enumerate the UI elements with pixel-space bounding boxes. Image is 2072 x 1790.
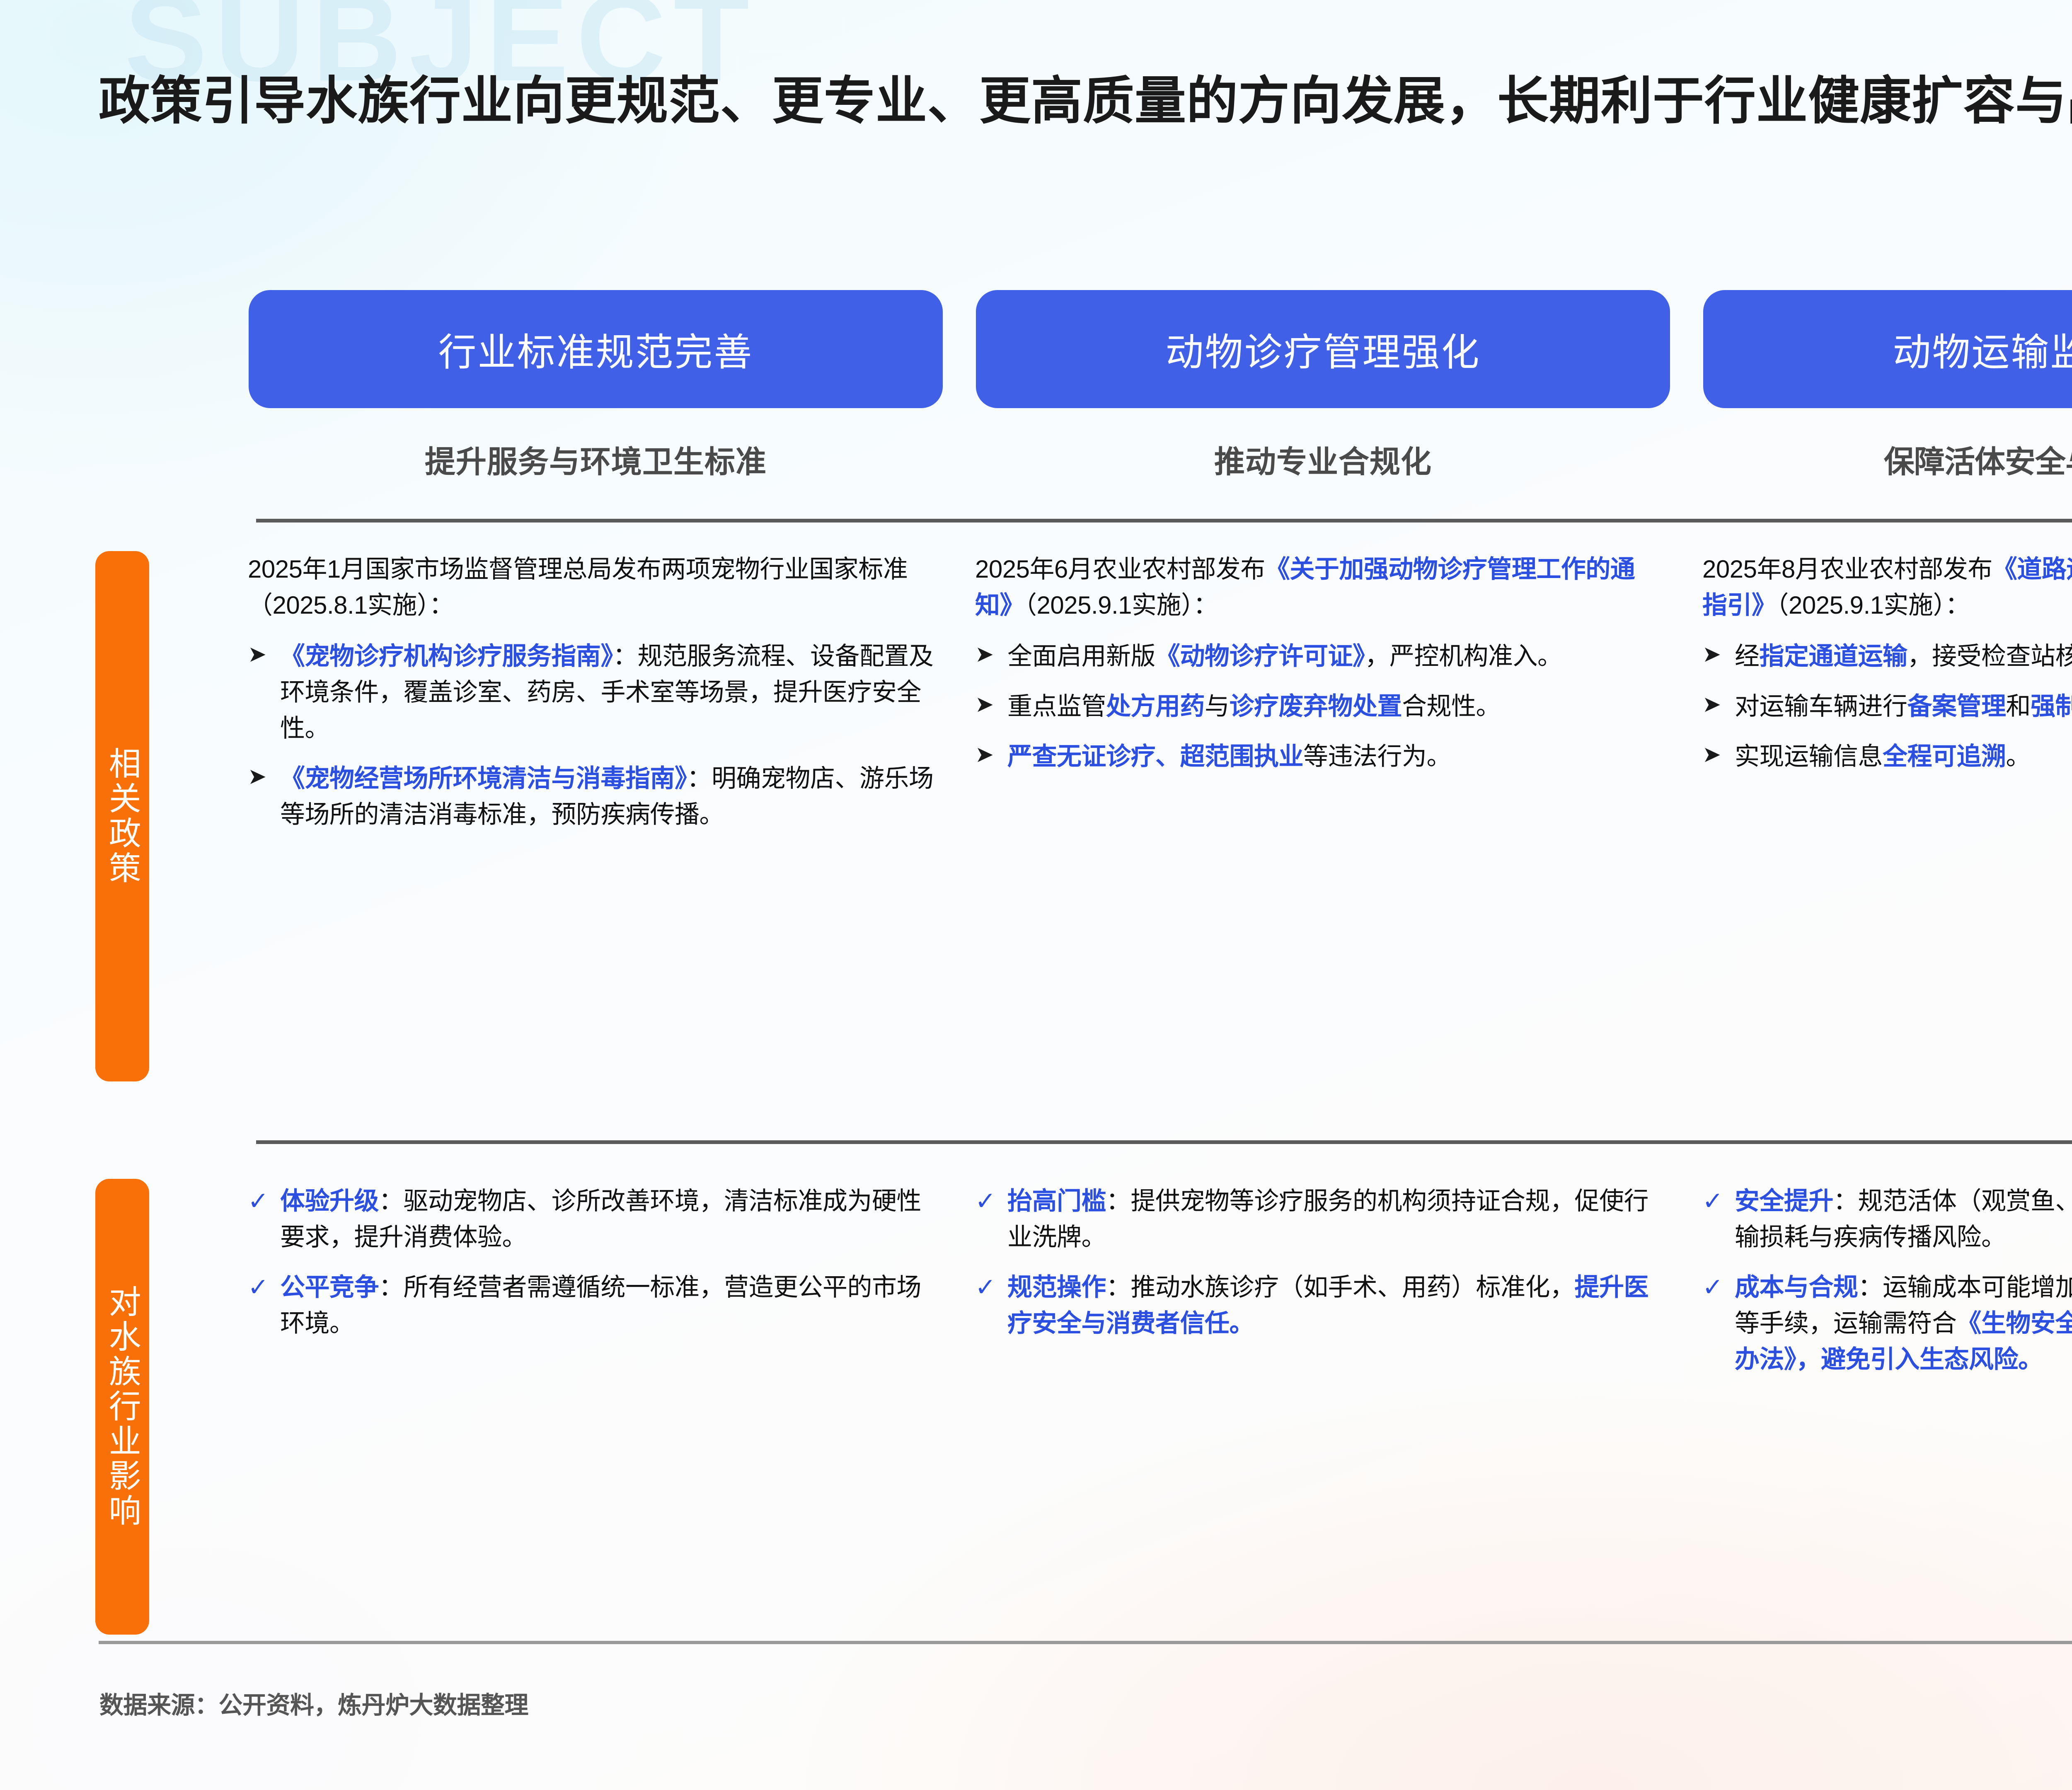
arrow-bullet-icon: ➤ (1702, 638, 1735, 670)
policy-row: 2025年1月国家市场监督管理总局发布两项宠物行业国家标准（2025.8.1实施… (232, 551, 2072, 832)
text-segment: 体验升级 (280, 1187, 379, 1215)
section-divider-middle (256, 1140, 2072, 1144)
list-item: ➤严查无证诊疗、超范围执业等违法行为。 (975, 738, 1669, 774)
section-divider-top (256, 519, 2072, 522)
arrow-bullet-icon: ➤ (1702, 688, 1735, 721)
row-label-impact-text: 对水族行业影响 (104, 1285, 140, 1529)
text-segment: 。 (2006, 743, 2031, 770)
text-segment: 成本与合规 (1735, 1273, 1858, 1301)
check-icon: ✓ (248, 1269, 280, 1305)
arrow-bullet-icon: ➤ (248, 760, 280, 793)
policy-lead-2: 2025年6月农业农村部发布《关于加强动物诊疗管理工作的通知》（2025.9.1… (975, 551, 1669, 623)
list-item: ➤《宠物经营场所环境清洁与消毒指南》：明确宠物店、游乐场等场所的清洁消毒标准，预… (248, 760, 942, 832)
impact-column-3: ✓安全提升：规范活体（观赏鱼、虾、龟）运输流程，降低运输损耗与疾病传播风险。✓成… (1687, 1183, 2072, 1391)
column-header-pill-2[interactable]: 动物诊疗管理强化 (976, 290, 1670, 408)
impact-bullet-list-1: ✓体验升级：驱动宠物店、诊所改善环境，清洁标准成为硬性要求，提升消费体验。✓公平… (248, 1183, 942, 1341)
impact-bullet-list-3: ✓安全提升：规范活体（观赏鱼、虾、龟）运输流程，降低运输损耗与疾病传播风险。✓成… (1702, 1183, 2072, 1377)
list-item: ➤全面启用新版《动物诊疗许可证》，严控机构准入。 (975, 638, 1669, 674)
policy-lead-3: 2025年8月农业农村部发布《道路运输动物指定通道检查站管理指引》（2025.9… (1702, 551, 2072, 623)
text-segment: （2025.9.1实施）： (1024, 591, 1218, 619)
list-item: ✓公平竞争：所有经营者需遵循统一标准，营造更公平的市场环境。 (248, 1269, 942, 1341)
column-2: 动物诊疗管理强化 推动专业合规化 (959, 290, 1687, 481)
text-segment: 《宠物经营场所环境清洁与消毒指南》 (280, 764, 687, 792)
policy-bullet-list-2: ➤全面启用新版《动物诊疗许可证》，严控机构准入。➤重点监管处方用药与诊疗废弃物处… (975, 638, 1669, 774)
arrow-bullet-icon: ➤ (975, 688, 1007, 721)
data-source-note: 数据来源：公开资料，炼丹炉大数据整理 (99, 1686, 528, 1720)
row-label-impact: 对水族行业影响 (95, 1179, 149, 1635)
policy-bullet-list-3: ➤经指定通道运输，接受检查站核验检疫证明、动物健康。➤对运输车辆进行备案管理和强… (1702, 638, 2072, 774)
text-segment: 对运输车辆进行 (1735, 692, 1907, 720)
text-segment: 全程可追溯 (1883, 743, 2006, 770)
column-header-pill-1[interactable]: 行业标准规范完善 (249, 290, 943, 408)
check-icon: ✓ (975, 1183, 1007, 1219)
text-segment: ，接受检查站核验检疫证明、动物健康。 (1907, 642, 2072, 670)
text-segment: 指定通道运输 (1760, 642, 1907, 670)
list-item-text: 成本与合规：运输成本可能增加，并要求企业完善检疫证明等手续，运输需符合《生物安全… (1735, 1269, 2072, 1377)
list-item: ➤对运输车辆进行备案管理和强制消毒。 (1702, 688, 2072, 724)
policy-column-1: 2025年1月国家市场监督管理总局发布两项宠物行业国家标准（2025.8.1实施… (232, 551, 959, 832)
list-item: ➤经指定通道运输，接受检查站核验检疫证明、动物健康。 (1702, 638, 2072, 674)
text-segment: 合规性。 (1402, 692, 1501, 720)
column-headers: 行业标准规范完善 提升服务与环境卫生标准 动物诊疗管理强化 推动专业合规化 动物… (232, 290, 2072, 481)
text-segment: 和 (2006, 692, 2031, 720)
policy-column-2: 2025年6月农业农村部发布《关于加强动物诊疗管理工作的通知》（2025.9.1… (959, 551, 1687, 832)
list-item-text: 规范操作：推动水族诊疗（如手术、用药）标准化，提升医疗安全与消费者信任。 (1007, 1269, 1669, 1341)
text-segment: 重点监管 (1007, 692, 1106, 720)
check-icon: ✓ (1702, 1269, 1735, 1305)
list-item: ✓体验升级：驱动宠物店、诊所改善环境，清洁标准成为硬性要求，提升消费体验。 (248, 1183, 942, 1255)
text-segment: 规范操作 (1007, 1273, 1106, 1301)
text-segment: 公平竞争 (280, 1273, 379, 1301)
list-item-text: 对运输车辆进行备案管理和强制消毒。 (1735, 688, 2072, 724)
list-item-text: 经指定通道运输，接受检查站核验检疫证明、动物健康。 (1735, 638, 2072, 674)
text-segment: 实现运输信息 (1735, 743, 1883, 770)
text-segment: 2025年8月农业农村部发布 (1702, 555, 1992, 583)
text-segment: 抬高门槛 (1007, 1187, 1106, 1215)
column-3: 动物运输监管升级 保障活体安全与生物安全 (1687, 290, 2072, 481)
text-segment: 处方用药 (1106, 692, 1205, 720)
impact-column-1: ✓体验升级：驱动宠物店、诊所改善环境，清洁标准成为硬性要求，提升消费体验。✓公平… (232, 1183, 959, 1391)
text-segment: 2025年6月农业农村部发布 (975, 555, 1265, 583)
arrow-bullet-icon: ➤ (248, 638, 280, 670)
column-subheader-1: 提升服务与环境卫生标准 (249, 437, 943, 481)
list-item: ✓安全提升：规范活体（观赏鱼、虾、龟）运输流程，降低运输损耗与疾病传播风险。 (1702, 1183, 2072, 1255)
arrow-bullet-icon: ➤ (975, 638, 1007, 670)
check-icon: ✓ (248, 1183, 280, 1219)
text-segment: 《宠物诊疗机构诊疗服务指南》 (280, 642, 613, 670)
page-title: 政策引导水族行业向更规范、更专业、更高质量的方向发展，长期利于行业健康扩容与品牌… (99, 66, 2072, 136)
slide-root: SUBJECT 政策引导水族行业向更规范、更专业、更高质量的方向发展，长期利于行… (0, 0, 2072, 1790)
arrow-bullet-icon: ➤ (975, 738, 1007, 771)
list-item: ✓规范操作：推动水族诊疗（如手术、用药）标准化，提升医疗安全与消费者信任。 (975, 1269, 1669, 1341)
text-segment: 与 (1205, 692, 1230, 720)
impact-column-2: ✓抬高门槛：提供宠物等诊疗服务的机构须持证合规，促使行业洗牌。✓规范操作：推动水… (959, 1183, 1687, 1391)
text-segment: ：推动水族诊疗（如手术、用药）标准化， (1106, 1273, 1575, 1301)
policy-lead-1: 2025年1月国家市场监督管理总局发布两项宠物行业国家标准（2025.8.1实施… (248, 551, 942, 623)
list-item-text: 体验升级：驱动宠物店、诊所改善环境，清洁标准成为硬性要求，提升消费体验。 (280, 1183, 942, 1255)
list-item-text: 重点监管处方用药与诊疗废弃物处置合规性。 (1007, 688, 1669, 724)
column-subheader-2: 推动专业合规化 (976, 437, 1670, 481)
policy-column-3: 2025年8月农业农村部发布《道路运输动物指定通道检查站管理指引》（2025.9… (1687, 551, 2072, 832)
text-segment: 诊疗废弃物处置 (1230, 692, 1402, 720)
text-segment: 经 (1735, 642, 1760, 670)
list-item: ➤《宠物诊疗机构诊疗服务指南》：规范服务流程、设备配置及环境条件，覆盖诊室、药房… (248, 638, 942, 746)
policy-bullet-list-1: ➤《宠物诊疗机构诊疗服务指南》：规范服务流程、设备配置及环境条件，覆盖诊室、药房… (248, 638, 942, 832)
row-label-policy-text: 相关政策 (104, 747, 140, 886)
text-segment: 《动物诊疗许可证》 (1155, 642, 1365, 670)
list-item-text: 安全提升：规范活体（观赏鱼、虾、龟）运输流程，降低运输损耗与疾病传播风险。 (1735, 1183, 2072, 1255)
list-item-text: 抬高门槛：提供宠物等诊疗服务的机构须持证合规，促使行业洗牌。 (1007, 1183, 1669, 1255)
list-item-text: 严查无证诊疗、超范围执业等违法行为。 (1007, 738, 1669, 774)
footer-divider (99, 1641, 2072, 1644)
list-item: ➤实现运输信息全程可追溯。 (1702, 738, 2072, 774)
list-item-text: 《宠物诊疗机构诊疗服务指南》：规范服务流程、设备配置及环境条件，覆盖诊室、药房、… (280, 638, 942, 746)
text-segment: 安全提升 (1735, 1187, 1833, 1215)
list-item-text: 全面启用新版《动物诊疗许可证》，严控机构准入。 (1007, 638, 1669, 674)
text-segment: 全面启用新版 (1007, 642, 1155, 670)
arrow-bullet-icon: ➤ (1702, 738, 1735, 771)
check-icon: ✓ (975, 1269, 1007, 1305)
text-segment: 强制消毒 (2031, 692, 2072, 720)
row-label-policy: 相关政策 (95, 551, 149, 1081)
list-item-text: 公平竞争：所有经营者需遵循统一标准，营造更公平的市场环境。 (280, 1269, 942, 1341)
list-item-text: 《宠物经营场所环境清洁与消毒指南》：明确宠物店、游乐场等场所的清洁消毒标准，预防… (280, 760, 942, 832)
column-header-pill-3[interactable]: 动物运输监管升级 (1703, 290, 2072, 408)
list-item: ✓成本与合规：运输成本可能增加，并要求企业完善检疫证明等手续，运输需符合《生物安… (1702, 1269, 2072, 1377)
text-segment: ，严控机构准入。 (1365, 642, 1562, 670)
check-icon: ✓ (1702, 1183, 1735, 1219)
impact-bullet-list-2: ✓抬高门槛：提供宠物等诊疗服务的机构须持证合规，促使行业洗牌。✓规范操作：推动水… (975, 1183, 1669, 1341)
column-subheader-3: 保障活体安全与生物安全 (1703, 437, 2072, 481)
list-item: ➤重点监管处方用药与诊疗废弃物处置合规性。 (975, 688, 1669, 724)
column-1: 行业标准规范完善 提升服务与环境卫生标准 (232, 290, 959, 481)
impact-row: ✓体验升级：驱动宠物店、诊所改善环境，清洁标准成为硬性要求，提升消费体验。✓公平… (232, 1183, 2072, 1391)
text-segment: 备案管理 (1907, 692, 2006, 720)
text-segment: 等违法行为。 (1303, 743, 1451, 770)
text-segment: 严查无证诊疗、超范围执业 (1007, 743, 1303, 770)
text-segment: （2025.9.1实施）： (1777, 591, 1970, 619)
text-segment: 《生物安全法》 (1957, 1309, 2072, 1337)
list-item: ✓抬高门槛：提供宠物等诊疗服务的机构须持证合规，促使行业洗牌。 (975, 1183, 1669, 1255)
list-item-text: 实现运输信息全程可追溯。 (1735, 738, 2072, 774)
